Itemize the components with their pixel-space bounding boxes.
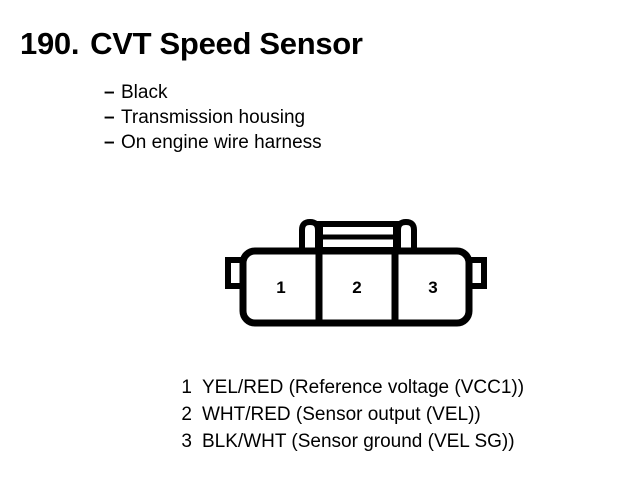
pin-number-3: 3 xyxy=(428,278,437,297)
spec-item-label: On engine wire harness xyxy=(121,130,322,155)
dash-bullet-icon: – xyxy=(104,130,121,155)
pin-legend-description: YEL/RED (Reference voltage (VCC1)) xyxy=(202,374,524,401)
dash-bullet-icon: – xyxy=(104,105,121,130)
pin-legend: 1 YEL/RED (Reference voltage (VCC1)) 2 W… xyxy=(178,374,524,455)
pin-legend-index: 3 xyxy=(178,428,192,455)
pin-number-1: 1 xyxy=(276,278,285,297)
spec-item: – Black xyxy=(104,80,322,105)
entry-number: 190. xyxy=(20,26,79,62)
connector-diagram: 1 2 3 xyxy=(222,218,490,328)
pin-legend-index: 2 xyxy=(178,401,192,428)
pin-legend-row: 2 WHT/RED (Sensor output (VEL)) xyxy=(178,401,524,428)
pin-legend-description: WHT/RED (Sensor output (VEL)) xyxy=(202,401,481,428)
spec-item-label: Transmission housing xyxy=(121,105,305,130)
pin-legend-description: BLK/WHT (Sensor ground (VEL SG)) xyxy=(202,428,515,455)
spec-item-label: Black xyxy=(121,80,167,105)
pin-legend-row: 1 YEL/RED (Reference voltage (VCC1)) xyxy=(178,374,524,401)
page-title: 190. CVT Speed Sensor xyxy=(20,26,363,62)
pin-legend-row: 3 BLK/WHT (Sensor ground (VEL SG)) xyxy=(178,428,524,455)
spec-item: – Transmission housing xyxy=(104,105,322,130)
pin-legend-index: 1 xyxy=(178,374,192,401)
dash-bullet-icon: – xyxy=(104,80,121,105)
spec-item: – On engine wire harness xyxy=(104,130,322,155)
page-canvas: 190. CVT Speed Sensor – Black – Transmis… xyxy=(0,0,640,486)
entry-title: CVT Speed Sensor xyxy=(90,26,363,62)
pin-number-2: 2 xyxy=(352,278,361,297)
spec-list: – Black – Transmission housing – On engi… xyxy=(104,80,322,155)
